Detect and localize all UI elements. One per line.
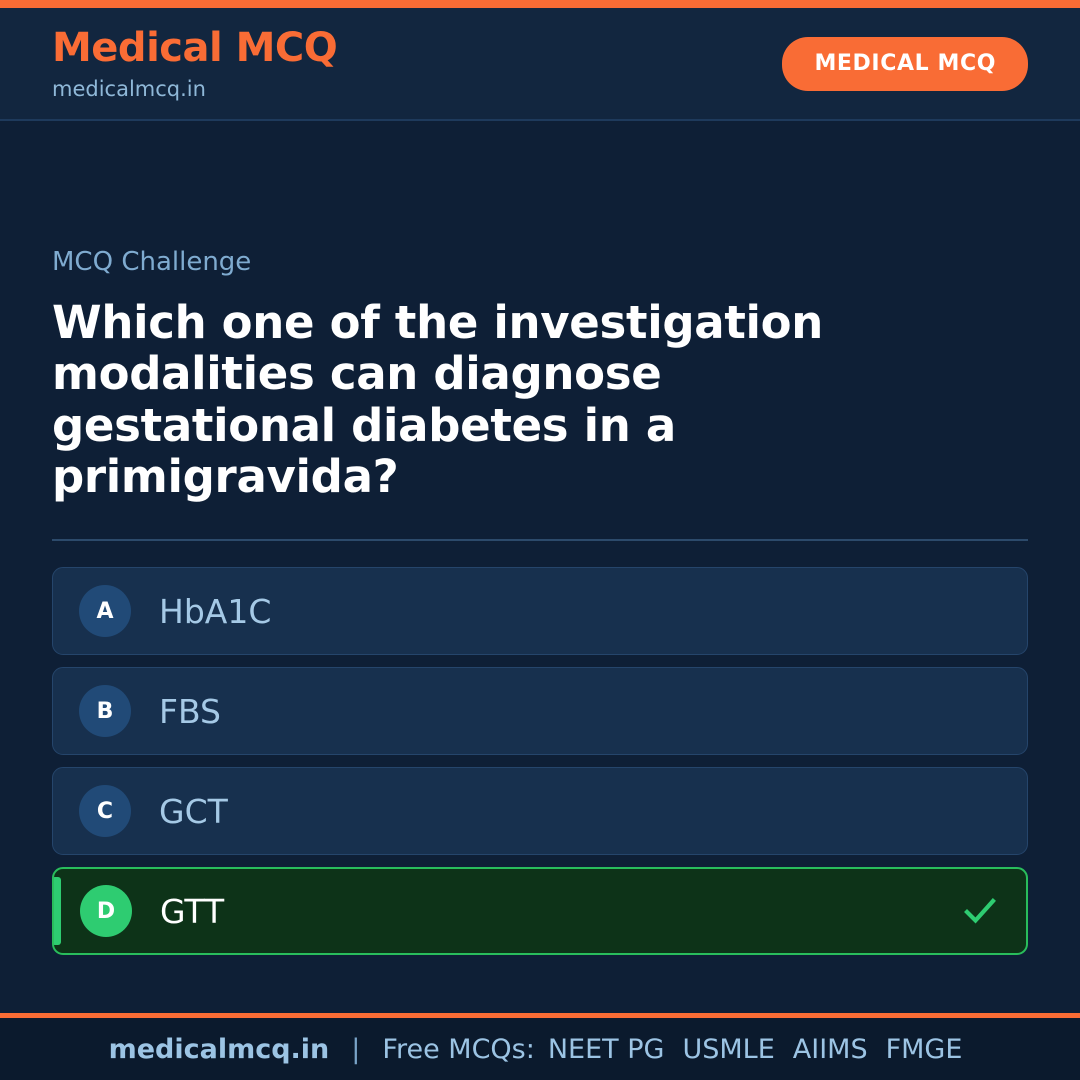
question-text: Which one of the investigation modalitie… — [52, 297, 952, 502]
option-letter-badge: B — [79, 685, 131, 737]
correct-accent-bar — [54, 877, 61, 945]
option-label: GCT — [159, 795, 228, 828]
option-row-a[interactable]: A HbA1C — [52, 567, 1028, 655]
option-row-d-correct[interactable]: D GTT — [52, 867, 1028, 955]
footer-site: medicalmcq.in — [109, 1034, 330, 1065]
header-badge: MEDICAL MCQ — [782, 37, 1028, 91]
option-label: FBS — [159, 695, 221, 728]
top-accent-bar — [0, 0, 1080, 8]
footer-separator: | — [329, 1034, 382, 1065]
mcq-card-page: Medical MCQ medicalmcq.in MEDICAL MCQ MC… — [0, 0, 1080, 1080]
page-header: Medical MCQ medicalmcq.in MEDICAL MCQ — [0, 8, 1080, 121]
option-letter-badge: C — [79, 785, 131, 837]
option-label: HbA1C — [159, 595, 271, 628]
footer-exam-neet-pg: NEET PG — [539, 1034, 674, 1065]
check-icon — [960, 891, 1000, 931]
brand-subtitle: medicalmcq.in — [52, 79, 337, 100]
option-letter-badge: D — [80, 885, 132, 937]
option-row-b[interactable]: B FBS — [52, 667, 1028, 755]
option-letter-badge: A — [79, 585, 131, 637]
option-row-c[interactable]: C GCT — [52, 767, 1028, 855]
options-list: A HbA1C B FBS C GCT D GTT — [52, 567, 1028, 955]
page-footer: medicalmcq.in | Free MCQs: NEET PG USMLE… — [0, 1018, 1080, 1080]
kicker-label: MCQ Challenge — [52, 249, 1028, 275]
question-divider — [52, 539, 1028, 541]
footer-exam-aiims: AIIMS — [784, 1034, 877, 1065]
footer-exam-usmle: USMLE — [673, 1034, 783, 1065]
footer-exam-fmge: FMGE — [877, 1034, 972, 1065]
brand-block: Medical MCQ medicalmcq.in — [52, 28, 337, 100]
option-label: GTT — [160, 895, 224, 928]
main-content: MCQ Challenge Which one of the investiga… — [0, 121, 1080, 1013]
brand-title: Medical MCQ — [52, 28, 337, 68]
footer-label: Free MCQs: — [382, 1034, 538, 1065]
